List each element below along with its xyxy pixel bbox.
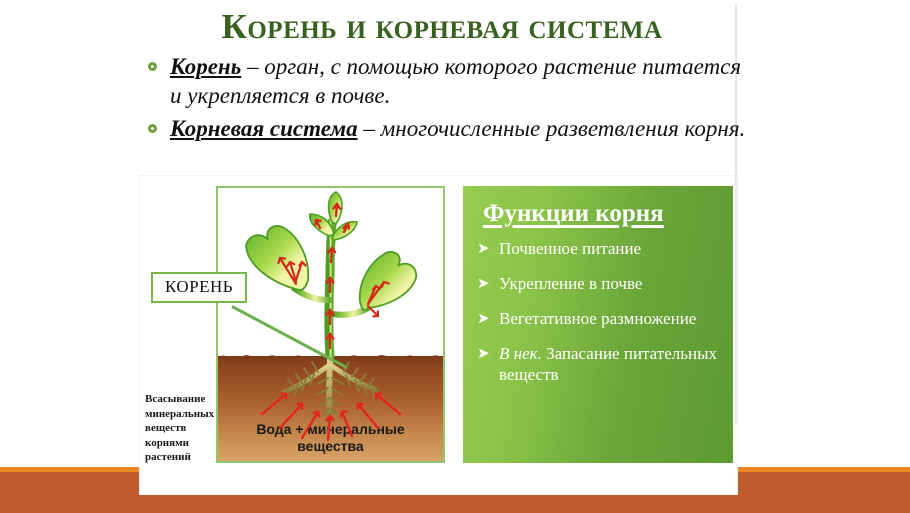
function-label: Вегетативное размножение	[499, 309, 696, 328]
definition-text: Корневая система – многочисленные развет…	[170, 114, 746, 143]
list-item: ➤ Вегетативное размножение	[477, 308, 719, 329]
absorption-caption: Всасывание минеральных веществ корнями р…	[145, 392, 215, 465]
list-item: ➤ Укрепление в почве	[477, 273, 719, 294]
plant-illustration-svg	[218, 188, 445, 463]
function-label: Почвенное питание	[499, 239, 641, 258]
page-title: Корень и корневая система	[146, 7, 738, 47]
function-emphasis: В нек.	[499, 344, 542, 363]
chevron-right-icon: ➤	[477, 344, 490, 364]
definition-body: – орган, с помощью которого растение пит…	[170, 54, 741, 108]
definition-text: Корень – орган, с помощью которого расте…	[170, 52, 746, 110]
list-item: ➤ Почвенное питание	[477, 238, 719, 259]
left-leaf	[246, 226, 308, 290]
root-callout-label: КОРЕНЬ	[151, 272, 247, 303]
ring-bullet-icon	[148, 62, 157, 71]
definition-term: Корневая система	[170, 116, 358, 141]
definition-term: Корень	[170, 54, 241, 79]
chevron-right-icon: ➤	[477, 239, 490, 259]
plant-diagram: Вода + минеральные вещества	[216, 186, 445, 463]
definition-body: – многочисленные разветвления корня.	[358, 116, 746, 141]
definition-list: Корень – орган, с помощью которого расте…	[146, 52, 746, 147]
list-item: ➤ В нек. Запасание питательных веществ	[477, 343, 719, 385]
function-label: Укрепление в почве	[499, 274, 642, 293]
ring-bullet-icon	[148, 124, 157, 133]
chevron-right-icon: ➤	[477, 309, 490, 329]
list-item: Корневая система – многочисленные развет…	[146, 114, 746, 143]
list-item: Корень – орган, с помощью которого расте…	[146, 52, 746, 110]
functions-panel-title: Функции корня	[483, 200, 719, 228]
functions-panel: Функции корня ➤ Почвенное питание ➤ Укре…	[463, 186, 733, 463]
slide-root: Корень и корневая система Корень – орган…	[0, 0, 910, 513]
root-system	[284, 360, 376, 420]
chevron-right-icon: ➤	[477, 274, 490, 294]
